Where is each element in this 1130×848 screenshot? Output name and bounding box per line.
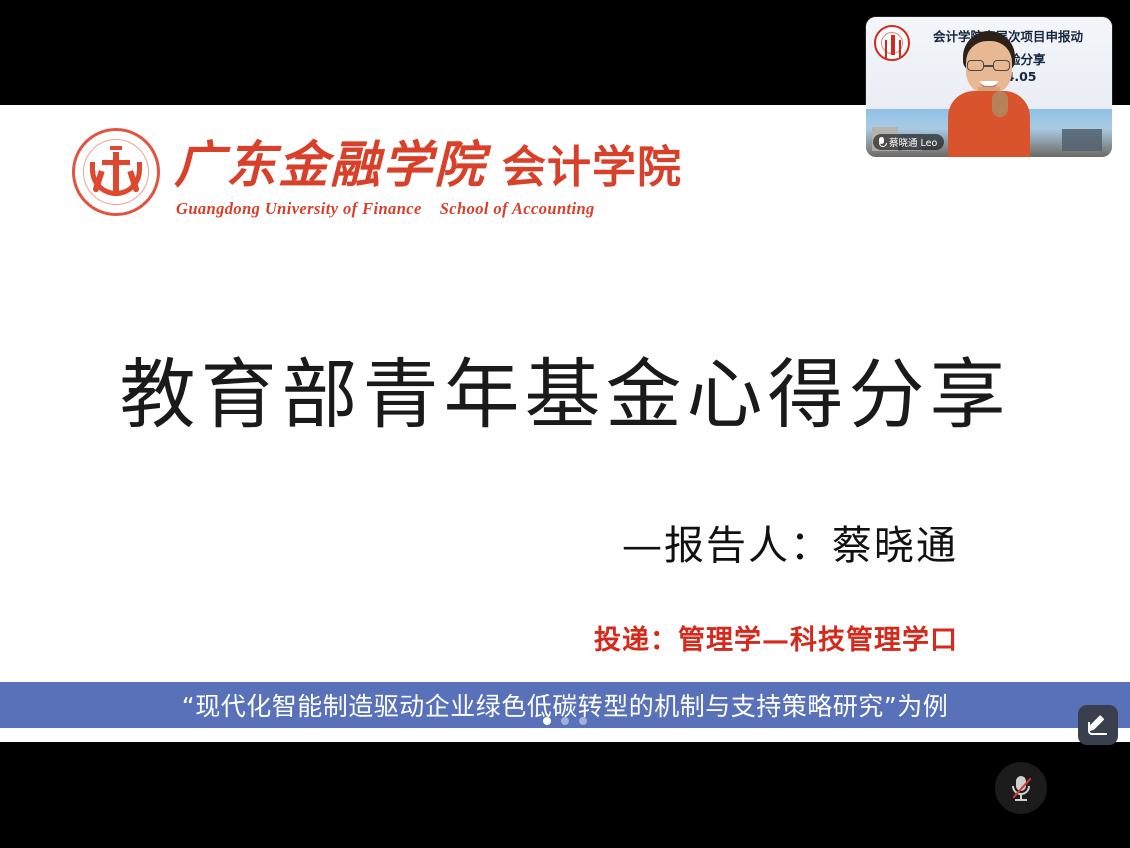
emblem-stem (113, 152, 119, 196)
microphone-muted-icon (1011, 774, 1031, 802)
slide-submission-category: 投递：管理学—科技管理学口 (594, 618, 958, 657)
participant-name-label: 蔡晓通 Leo (889, 135, 937, 149)
university-emblem-icon (72, 128, 160, 216)
emblem-top-bar (110, 146, 122, 150)
slide-presenter: —报告人：蔡晓通 (622, 513, 958, 571)
emblem-mark (88, 144, 144, 200)
logo-school-name-en: School of Accounting (440, 199, 595, 219)
pagination-dot-2[interactable] (561, 717, 569, 725)
presentation-slide: 广东金融学院 会计学院 Guangdong University of Fina… (0, 105, 1130, 742)
pagination-dot-3[interactable] (579, 717, 587, 725)
portrait-glasses-left (967, 60, 984, 71)
logo-school-name-cn: 会计学院 (502, 131, 682, 195)
logo-university-name-en: Guangdong University of Finance (176, 199, 422, 219)
logo-text-block: 广东金融学院 会计学院 Guangdong University of Fina… (174, 125, 682, 219)
logo-chinese-line: 广东金融学院 会计学院 (174, 125, 682, 197)
self-view-video-tile[interactable]: 会计学院高层次项目申报动 员暨经验分享 2024.05 蔡晓通 Leo (866, 17, 1112, 157)
participant-name-badge: 蔡晓通 Leo (873, 134, 944, 150)
portrait-glasses-bridge (984, 65, 993, 67)
slide-pagination[interactable] (0, 717, 1130, 725)
university-logo: 广东金融学院 会计学院 Guangdong University of Fina… (72, 125, 682, 219)
logo-university-name-cn: 广东金融学院 (174, 125, 486, 197)
mic-base (1015, 799, 1027, 801)
school-emblem-icon (874, 25, 910, 61)
logo-english-line: Guangdong University of Finance School o… (174, 199, 682, 219)
microphone-icon (878, 137, 885, 148)
emblem-cross (102, 160, 130, 165)
slide-title: 教育部青年基金心得分享 (0, 333, 1130, 443)
background-building-3 (1062, 129, 1102, 151)
pagination-dot-1[interactable] (543, 717, 551, 725)
portrait-glasses-right (993, 60, 1010, 71)
pen-annotate-icon (1087, 714, 1109, 736)
portrait-scarf (992, 91, 1008, 117)
annotate-button[interactable] (1078, 705, 1118, 745)
participant-portrait (946, 29, 1032, 157)
mute-toggle-button[interactable] (995, 762, 1047, 814)
screen-root: 广东金融学院 会计学院 Guangdong University of Fina… (0, 0, 1130, 848)
portrait-body (948, 91, 1030, 157)
